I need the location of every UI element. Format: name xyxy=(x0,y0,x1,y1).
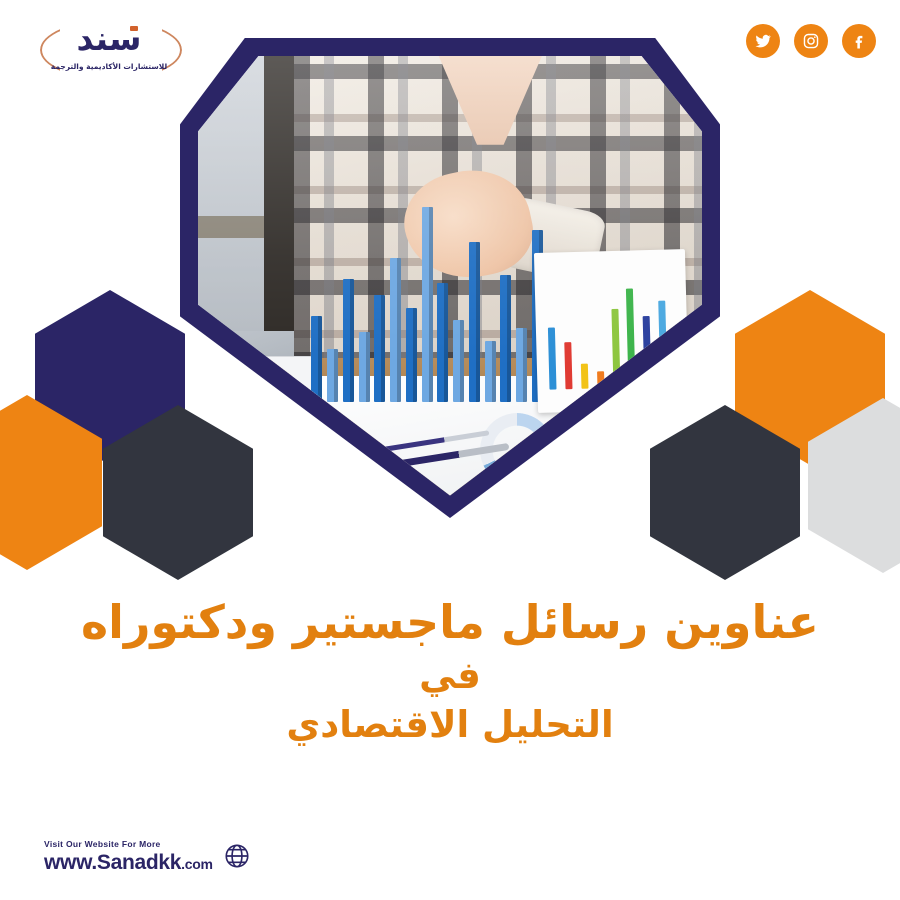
card-chart-bar xyxy=(580,364,588,390)
globe-icon xyxy=(223,842,251,870)
card-chart-bar xyxy=(548,328,557,391)
chart-bar xyxy=(390,258,401,402)
logo-wordmark: سند xyxy=(34,22,184,57)
footer-url[interactable]: www.Sanadkk.com xyxy=(44,852,213,873)
facebook-icon[interactable] xyxy=(842,24,876,58)
footer-website[interactable]: Visit Our Website For More www.Sanadkk.c… xyxy=(44,840,251,873)
chart-bar xyxy=(374,295,385,402)
chart-bar xyxy=(469,242,480,402)
photo-cabinet-edge xyxy=(264,56,294,331)
footer-tagline: Visit Our Website For More xyxy=(44,840,213,849)
poster-canvas: سند للاستشارات الأكاديمية والترجمة xyxy=(0,0,900,900)
headline-block: عناوين رسائل ماجستير ودكتوراه في التحليل… xyxy=(0,596,900,746)
card-chart-bar xyxy=(658,301,667,387)
footer-url-tld: .com xyxy=(181,856,212,872)
logo-subtitle: للاستشارات الأكاديمية والترجمة xyxy=(34,62,184,71)
social-icons-group xyxy=(746,24,876,58)
photo-pie-chart xyxy=(620,357,692,429)
card-chart-bar xyxy=(611,309,620,389)
chart-bar xyxy=(485,341,496,403)
chart-bar xyxy=(500,275,511,402)
card-chart-bar xyxy=(643,317,652,388)
photo-background xyxy=(198,56,702,500)
card-chart-bar xyxy=(626,289,636,388)
chart-bar xyxy=(453,320,464,402)
headline-line-3: التحليل الاقتصادي xyxy=(0,704,900,747)
hero-photo xyxy=(198,56,702,500)
photo-bar-chart-3d xyxy=(309,207,561,402)
photo-chart-card xyxy=(534,249,689,413)
brand-logo[interactable]: سند للاستشارات الأكاديمية والترجمة xyxy=(34,16,184,82)
photo-card-bars xyxy=(534,249,689,413)
headline-line-1: عناوين رسائل ماجستير ودكتوراه xyxy=(0,596,900,648)
headline-line-2: في xyxy=(0,648,900,704)
chart-bar xyxy=(406,308,417,403)
chart-bar xyxy=(359,332,370,402)
footer-url-www: www. xyxy=(44,851,97,874)
logo-accent-dot xyxy=(130,26,138,31)
card-chart-bar xyxy=(564,342,572,390)
chart-bar xyxy=(327,349,338,402)
photo-shelf xyxy=(198,216,264,238)
card-chart-bar xyxy=(596,372,603,389)
hero-hexagon-frame xyxy=(180,38,720,518)
photo-secondary-paper xyxy=(218,356,321,429)
instagram-icon[interactable] xyxy=(794,24,828,58)
chart-bar xyxy=(311,316,322,402)
chart-bar xyxy=(437,283,448,402)
chart-bar xyxy=(516,328,527,402)
chart-bar xyxy=(422,207,433,402)
footer-url-name: Sanadkk xyxy=(97,851,181,874)
twitter-icon[interactable] xyxy=(746,24,780,58)
chart-bar xyxy=(343,279,354,402)
